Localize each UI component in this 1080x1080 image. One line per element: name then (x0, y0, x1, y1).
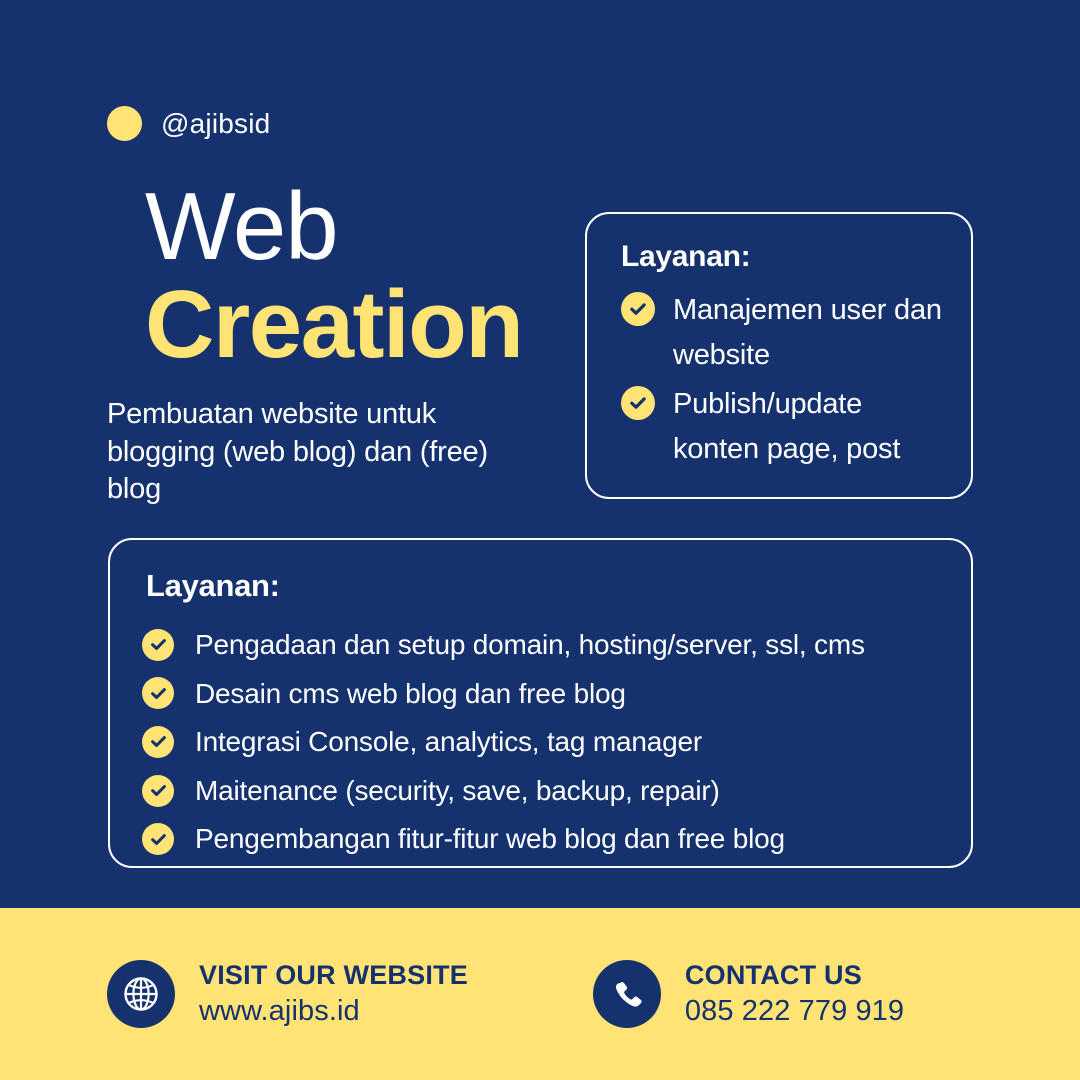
footer-website-url[interactable]: www.ajibs.id (199, 994, 468, 1028)
check-circle-icon (142, 726, 174, 758)
footer-bar: VISIT OUR WEBSITE www.ajibs.id CONTACT U… (0, 908, 1080, 1080)
list-item-label: Integrasi Console, analytics, tag manage… (195, 725, 702, 759)
footer-website-text: VISIT OUR WEBSITE www.ajibs.id (199, 960, 468, 1028)
list-item: Publish/update konten page, post (621, 382, 943, 472)
list-item-label: Desain cms web blog dan free blog (195, 677, 626, 711)
check-circle-icon (142, 629, 174, 661)
list-item-label: Maitenance (security, save, backup, repa… (195, 774, 720, 808)
check-circle-icon (621, 292, 655, 326)
check-circle-icon (142, 775, 174, 807)
check-circle-icon (142, 677, 174, 709)
footer-contact-phone[interactable]: 085 222 779 919 (685, 994, 904, 1028)
list-item: Integrasi Console, analytics, tag manage… (142, 725, 941, 759)
account-handle-label: @ajibsid (161, 110, 270, 138)
footer-contact-block[interactable]: CONTACT US 085 222 779 919 (593, 960, 904, 1028)
list-item-label: Pengembangan fitur-fitur web blog dan fr… (195, 822, 785, 856)
headline-line-2: Creation (145, 276, 615, 374)
services-card-title: Layanan: (621, 240, 943, 274)
account-handle-row: @ajibsid (107, 106, 270, 141)
globe-icon (107, 960, 175, 1028)
list-item-label: Pengadaan dan setup domain, hosting/serv… (195, 628, 865, 662)
list-item-label: Manajemen user dan website (673, 288, 943, 378)
headline-line-1: Web (145, 178, 615, 276)
list-item: Pengembangan fitur-fitur web blog dan fr… (142, 822, 941, 856)
list-item: Desain cms web blog dan free blog (142, 677, 941, 711)
services-card-bottom: Layanan: Pengadaan dan setup domain, hos… (108, 538, 973, 868)
check-circle-icon (621, 386, 655, 420)
footer-contact-text: CONTACT US 085 222 779 919 (685, 960, 904, 1028)
page-title: Web Creation (145, 178, 615, 374)
services-list-bottom: Pengadaan dan setup domain, hosting/serv… (142, 628, 941, 856)
poster-canvas: @ajibsid Web Creation Pembuatan website … (0, 0, 1080, 1080)
services-card-top-right: Layanan: Manajemen user dan website Publ… (585, 212, 973, 499)
yellow-dot-icon (107, 106, 142, 141)
list-item: Pengadaan dan setup domain, hosting/serv… (142, 628, 941, 662)
list-item-label: Publish/update konten page, post (673, 382, 943, 472)
services-list-top-right: Manajemen user dan website Publish/updat… (621, 288, 943, 472)
services-card-title: Layanan: (146, 568, 941, 604)
phone-icon (593, 960, 661, 1028)
list-item: Maitenance (security, save, backup, repa… (142, 774, 941, 808)
footer-website-title: VISIT OUR WEBSITE (199, 960, 468, 992)
headline-subtitle: Pembuatan website untuk blogging (web bl… (107, 396, 547, 509)
footer-contact-title: CONTACT US (685, 960, 904, 992)
footer-website-block[interactable]: VISIT OUR WEBSITE www.ajibs.id (107, 960, 468, 1028)
list-item: Manajemen user dan website (621, 288, 943, 378)
check-circle-icon (142, 823, 174, 855)
